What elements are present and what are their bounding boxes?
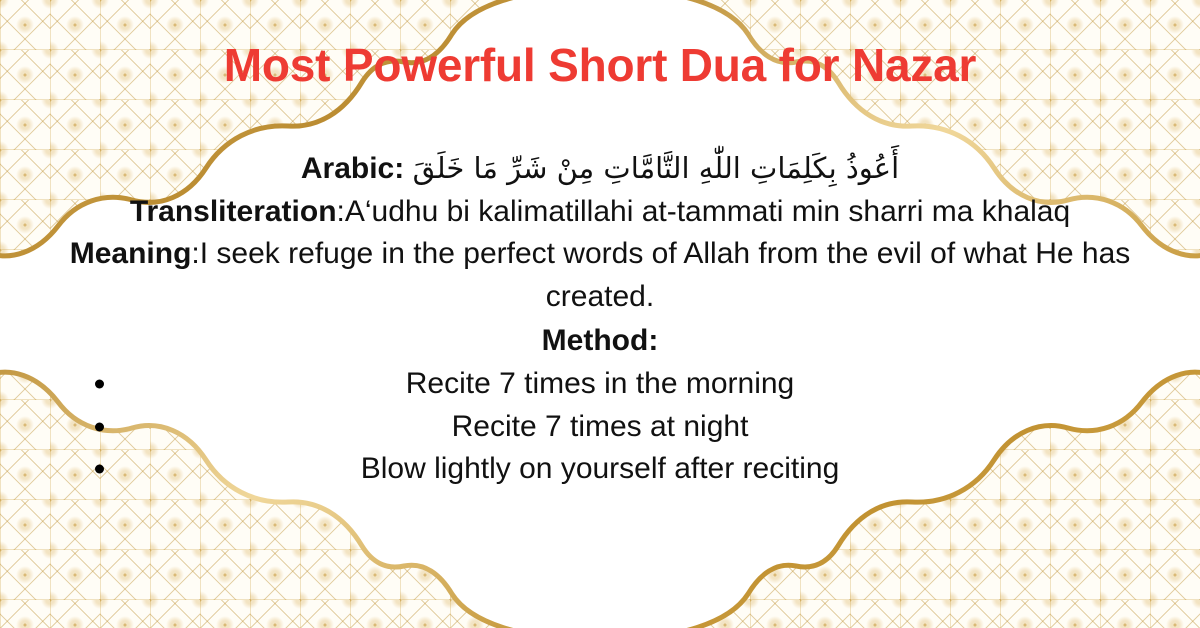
list-item-label: Recite 7 times at night bbox=[452, 410, 749, 443]
meaning-text: I seek refuge in the perfect words of Al… bbox=[200, 237, 1130, 313]
list-item-label: Recite 7 times in the morning bbox=[406, 367, 795, 400]
method-label: Method bbox=[542, 324, 649, 357]
dua-body: Arabic: أَعُوذُ بِكَلِمَاتِ اللّٰهِ التَ… bbox=[58, 148, 1142, 491]
arabic-separator: : bbox=[394, 152, 412, 185]
transliteration-separator: : bbox=[337, 195, 345, 228]
arabic-label: Arabic bbox=[301, 152, 394, 185]
transliteration-text: A‘udhu bi kalimatillahi at-tammati min s… bbox=[345, 195, 1070, 228]
meaning-label: Meaning bbox=[70, 237, 192, 270]
arabic-text: أَعُوذُ بِكَلِمَاتِ اللّٰهِ التَّامَّاتِ… bbox=[413, 151, 900, 185]
method-line: Method: bbox=[58, 320, 1142, 363]
list-item: Blow lightly on yourself after reciting bbox=[58, 448, 1142, 491]
meaning-line: Meaning:I seek refuge in the perfect wor… bbox=[58, 233, 1142, 318]
dua-card: Most Powerful Short Dua for Nazar Arabic… bbox=[0, 0, 1200, 628]
card-content: Most Powerful Short Dua for Nazar Arabic… bbox=[0, 0, 1200, 628]
method-steps-list: Recite 7 times in the morning Recite 7 t… bbox=[58, 363, 1142, 491]
bullet-dot-icon bbox=[95, 422, 104, 431]
arabic-line: Arabic: أَعُوذُ بِكَلِمَاتِ اللّٰهِ التَ… bbox=[58, 148, 1142, 191]
bullet-dot-icon bbox=[95, 465, 104, 474]
list-item-label: Blow lightly on yourself after reciting bbox=[361, 452, 840, 485]
transliteration-line: Transliteration:A‘udhu bi kalimatillahi … bbox=[58, 191, 1142, 234]
transliteration-label: Transliteration bbox=[130, 195, 337, 228]
meaning-separator: : bbox=[191, 237, 199, 270]
bullet-dot-icon bbox=[95, 380, 104, 389]
page-title: Most Powerful Short Dua for Nazar bbox=[0, 40, 1200, 91]
method-separator: : bbox=[648, 324, 658, 357]
list-item: Recite 7 times in the morning bbox=[58, 363, 1142, 406]
list-item: Recite 7 times at night bbox=[58, 406, 1142, 449]
